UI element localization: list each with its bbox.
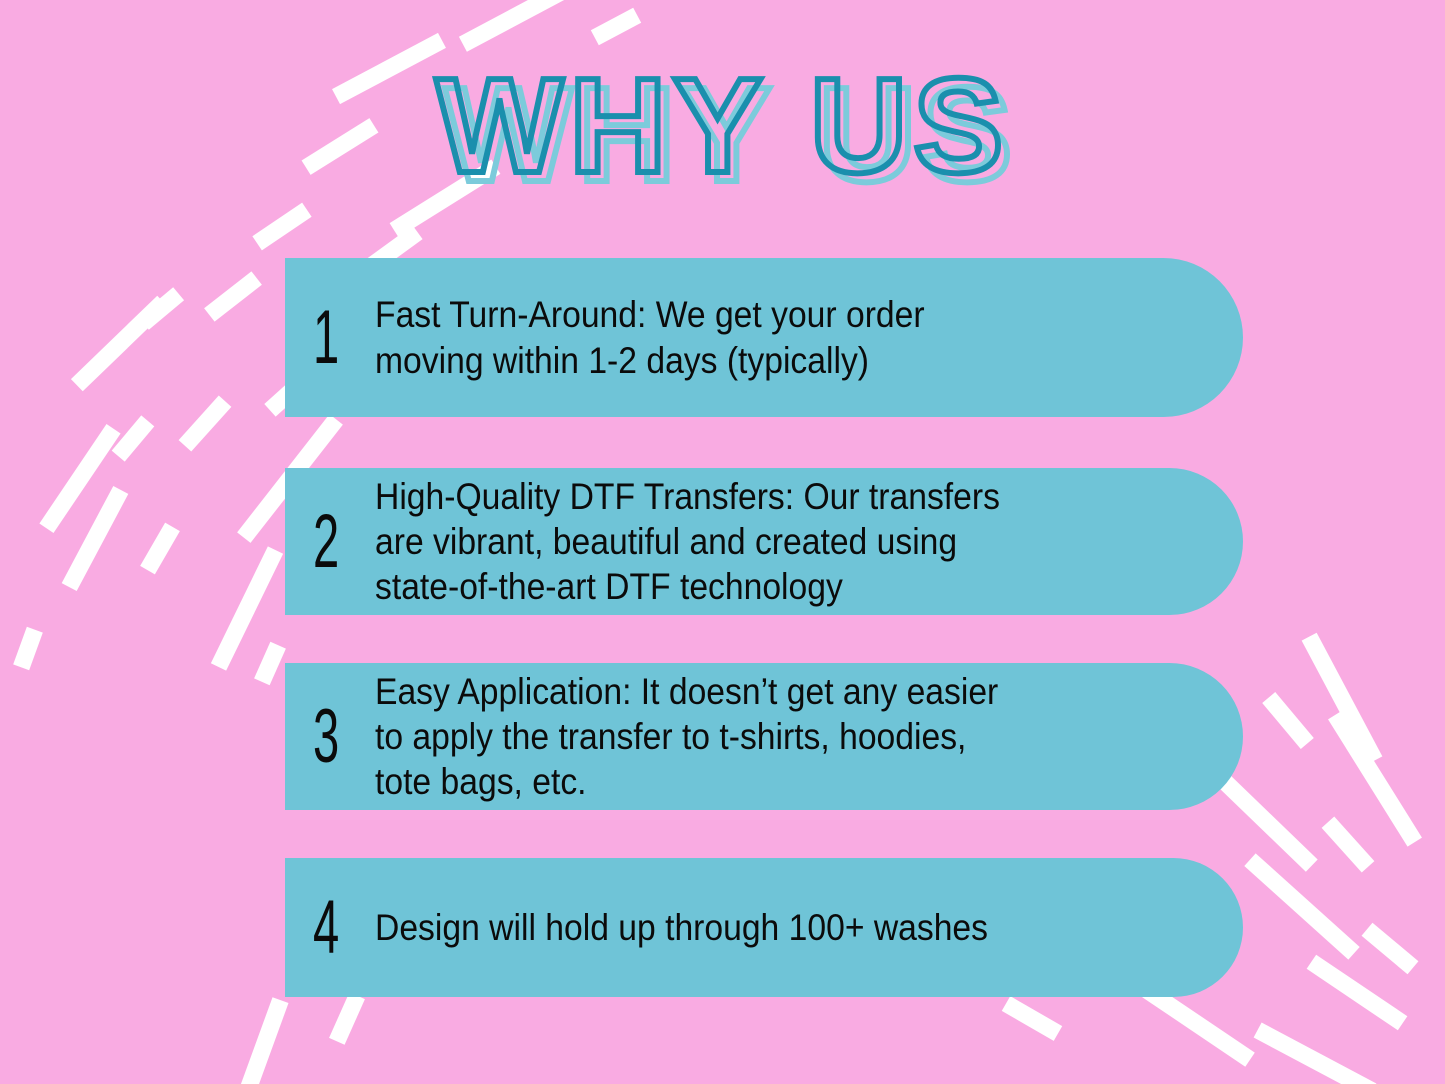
diagonal-dash-icon (71, 296, 169, 392)
diagonal-dash-icon (62, 486, 129, 591)
diagonal-dash-icon (211, 546, 283, 670)
diagonal-dash-icon (1244, 853, 1359, 959)
diagonal-dash-icon (39, 424, 120, 533)
benefit-card-line: to apply the transfer to t-shirts, hoodi… (375, 714, 1110, 759)
diagonal-dash-icon (138, 287, 184, 330)
benefit-card: 2 High-Quality DTF Transfers: Our transf… (285, 468, 1243, 615)
diagonal-dash-icon (1302, 633, 1383, 765)
benefit-card-line: High-Quality DTF Transfers: Our transfer… (375, 474, 1110, 519)
benefit-card-text: Fast Turn-Around: We get your order movi… (375, 292, 1110, 382)
benefit-card-line: Fast Turn-Around: We get your order (375, 292, 1110, 337)
benefit-card: 1 Fast Turn-Around: We get your order mo… (285, 258, 1243, 417)
benefit-card-number: 2 (313, 509, 351, 574)
diagonal-dash-icon (1212, 769, 1317, 872)
diagonal-dash-icon (1262, 692, 1314, 749)
diagonal-dash-icon (591, 8, 641, 46)
benefit-card: 3 Easy Application: It doesn’t get any e… (285, 663, 1243, 810)
diagonal-dash-icon (1254, 1022, 1377, 1084)
diagonal-dash-icon (329, 992, 365, 1045)
benefit-card-line: Design will hold up through 100+ washes (375, 905, 1110, 950)
benefit-card-number: 3 (313, 704, 351, 769)
diagonal-dash-icon (204, 271, 262, 321)
benefit-card-text: Design will hold up through 100+ washes (375, 905, 1110, 950)
diagonal-dash-icon (179, 396, 232, 452)
diagonal-dash-icon (1002, 996, 1062, 1041)
page-title: WHY US WHY US (0, 46, 1445, 206)
diagonal-dash-icon (140, 523, 180, 575)
diagonal-dash-icon (231, 997, 288, 1084)
benefit-card-line: tote bags, etc. (375, 759, 1110, 804)
page-title-text: WHY US (0, 51, 1445, 201)
benefit-card-text: High-Quality DTF Transfers: Our transfer… (375, 474, 1110, 609)
benefit-card-number: 1 (313, 305, 351, 370)
benefit-card-line: are vibrant, beautiful and created using (375, 519, 1110, 564)
diagonal-dash-icon (13, 627, 43, 670)
benefit-card: 4 Design will hold up through 100+ washe… (285, 858, 1243, 997)
benefit-card-line: moving within 1-2 days (typically) (375, 338, 1110, 383)
benefit-card-number: 4 (313, 895, 351, 960)
diagonal-dash-icon (1328, 710, 1422, 846)
diagonal-dash-icon (112, 415, 155, 461)
diagonal-dash-icon (254, 642, 286, 685)
diagonal-dash-icon (1322, 817, 1375, 873)
benefit-card-line: state-of-the-art DTF technology (375, 564, 1110, 609)
benefit-card-line: Easy Application: It doesn’t get any eas… (375, 669, 1110, 714)
diagonal-dash-icon (459, 0, 571, 52)
benefit-card-text: Easy Application: It doesn’t get any eas… (375, 669, 1110, 804)
diagonal-dash-icon (1307, 955, 1408, 1031)
diagonal-dash-icon (1362, 923, 1419, 975)
